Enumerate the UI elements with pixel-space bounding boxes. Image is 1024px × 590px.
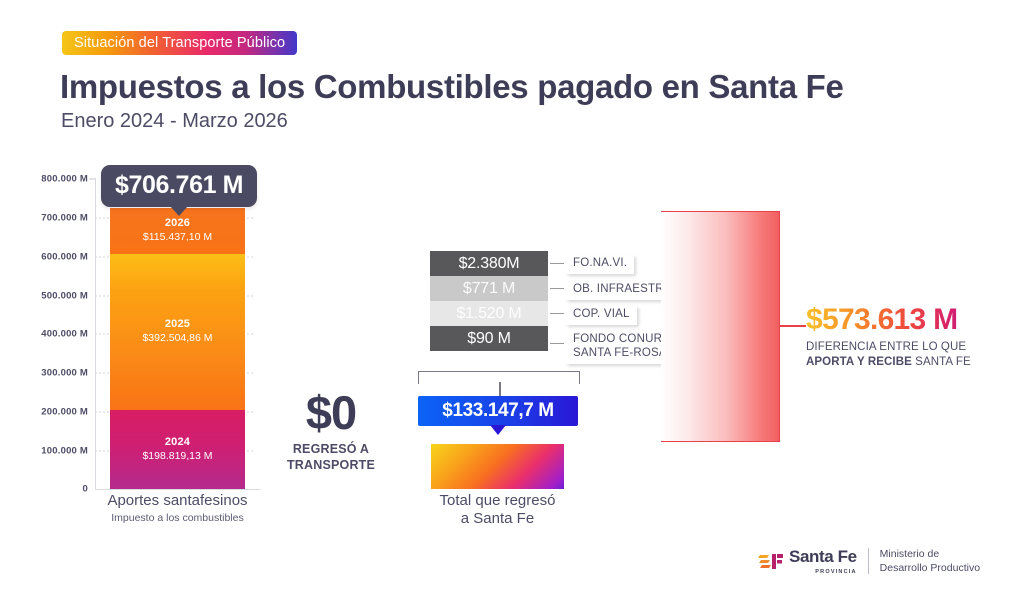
segment-2025-year: 2025 <box>165 318 190 332</box>
breakdown-rows: $2.380M $771 M $1.520 M $90 M <box>430 251 548 351</box>
zero-returned-block: $0 REGRESÓ A TRANSPORTE <box>266 390 396 473</box>
difference-caption: DIFERENCIA ENTRE LO QUE APORTA Y RECIBE … <box>806 340 1016 370</box>
kicker-badge: Situación del Transporte Público <box>62 31 297 55</box>
leader-line <box>550 313 564 314</box>
stacked-bar-aportes: 2026 $115.437,10 M 2025 $392.504,86 M 20… <box>110 208 245 489</box>
footer-logo: Santa Fe PROVINCIA Ministerio de Desarro… <box>758 547 980 575</box>
difference-leader-line <box>779 325 806 327</box>
y-tick-200000: 200.000 M <box>41 407 88 418</box>
total-callout-badge: $706.761 M <box>101 165 257 207</box>
logo-divider <box>868 548 869 574</box>
page-title: Impuestos a los Combustibles pagado en S… <box>60 68 844 106</box>
difference-block: $573.613 M DIFERENCIA ENTRE LO QUE APORT… <box>806 303 1016 370</box>
difference-caption-line2: APORTA Y RECIBE SANTA FE <box>806 355 1016 370</box>
zero-caption: REGRESÓ A TRANSPORTE <box>266 442 396 473</box>
difference-caption-rest: SANTA FE <box>912 356 971 368</box>
segment-2025-amount: $392.504,86 M <box>142 332 212 346</box>
breakdown-row-fonavi: $2.380M <box>430 251 548 276</box>
breakdown-label-cop-vial: COP. VIAL <box>566 306 637 325</box>
axis-line <box>95 178 96 489</box>
bracket-returned <box>418 371 580 384</box>
infographic-canvas: Situación del Transporte Público Impuest… <box>0 0 1024 590</box>
zero-caption-line1: REGRESÓ A <box>266 442 396 458</box>
segment-2024-amount: $198.819,13 M <box>142 450 212 464</box>
returned-mini-bar <box>431 444 564 489</box>
y-tick-800000: 800.000 M <box>41 174 88 185</box>
bar-segment-2025: 2025 $392.504,86 M <box>110 254 245 410</box>
leader-line <box>550 343 564 344</box>
breakdown-value: $1.520 M <box>456 305 521 323</box>
breakdown-row-fondo-conurbano: $90 M <box>430 326 548 351</box>
caption-main: Aportes santafesinos <box>50 492 305 510</box>
breakdown-value: $771 M <box>463 280 515 298</box>
caption-sub: Impuesto a los combustibles <box>50 511 305 525</box>
logo-text: Santa Fe PROVINCIA <box>789 548 857 575</box>
caption-line1: Total que regresó <box>410 492 585 510</box>
caption-line2: a Santa Fe <box>410 510 585 528</box>
y-tick-400000: 400.000 M <box>41 329 88 340</box>
difference-caption-line1: DIFERENCIA ENTRE LO QUE <box>806 340 1016 355</box>
x-axis-caption-returned: Total que regresó a Santa Fe <box>410 492 585 528</box>
leader-line <box>550 288 564 289</box>
ministry-text: Ministerio de Desarrollo Productivo <box>880 547 980 575</box>
baseline <box>95 489 260 490</box>
breakdown-row-infraestructura: $771 M <box>430 276 548 301</box>
difference-amount: $573.613 M <box>806 303 1016 337</box>
returned-total-badge: $133.147,7 M <box>418 396 578 426</box>
breakdown-value: $90 M <box>467 330 510 348</box>
breakdown-label-fonavi: FO.NA.VI. <box>566 255 634 274</box>
zero-amount: $0 <box>266 390 396 436</box>
ministry-line2: Desarrollo Productivo <box>880 561 980 575</box>
logo-provincia: PROVINCIA <box>789 569 857 575</box>
leader-line <box>550 263 564 264</box>
breakdown-value: $2.380M <box>459 255 520 273</box>
y-tick-700000: 700.000 M <box>41 213 88 224</box>
page-subtitle: Enero 2024 - Marzo 2026 <box>61 110 288 133</box>
y-tick-300000: 300.000 M <box>41 368 88 379</box>
segment-2026-year: 2026 <box>165 217 190 231</box>
x-axis-caption-aportes: Aportes santafesinos Impuesto a los comb… <box>50 492 305 525</box>
bar-segment-2024: 2024 $198.819,13 M <box>110 410 245 489</box>
y-tick-500000: 500.000 M <box>41 291 88 302</box>
logo-name: Santa Fe <box>789 547 857 566</box>
segment-2026-amount: $115.437,10 M <box>143 231 212 245</box>
segment-2024-year: 2024 <box>165 436 190 450</box>
zero-caption-line2: TRANSPORTE <box>266 458 396 474</box>
santa-fe-logo-icon <box>758 550 784 572</box>
ministry-line1: Ministerio de <box>880 547 980 561</box>
difference-caption-strong: APORTA Y RECIBE <box>806 356 912 368</box>
y-tick-100000: 100.000 M <box>41 446 88 457</box>
y-tick-600000: 600.000 M <box>41 252 88 263</box>
breakdown-row-cop-vial: $1.520 M <box>430 301 548 326</box>
difference-red-panel <box>661 211 780 442</box>
